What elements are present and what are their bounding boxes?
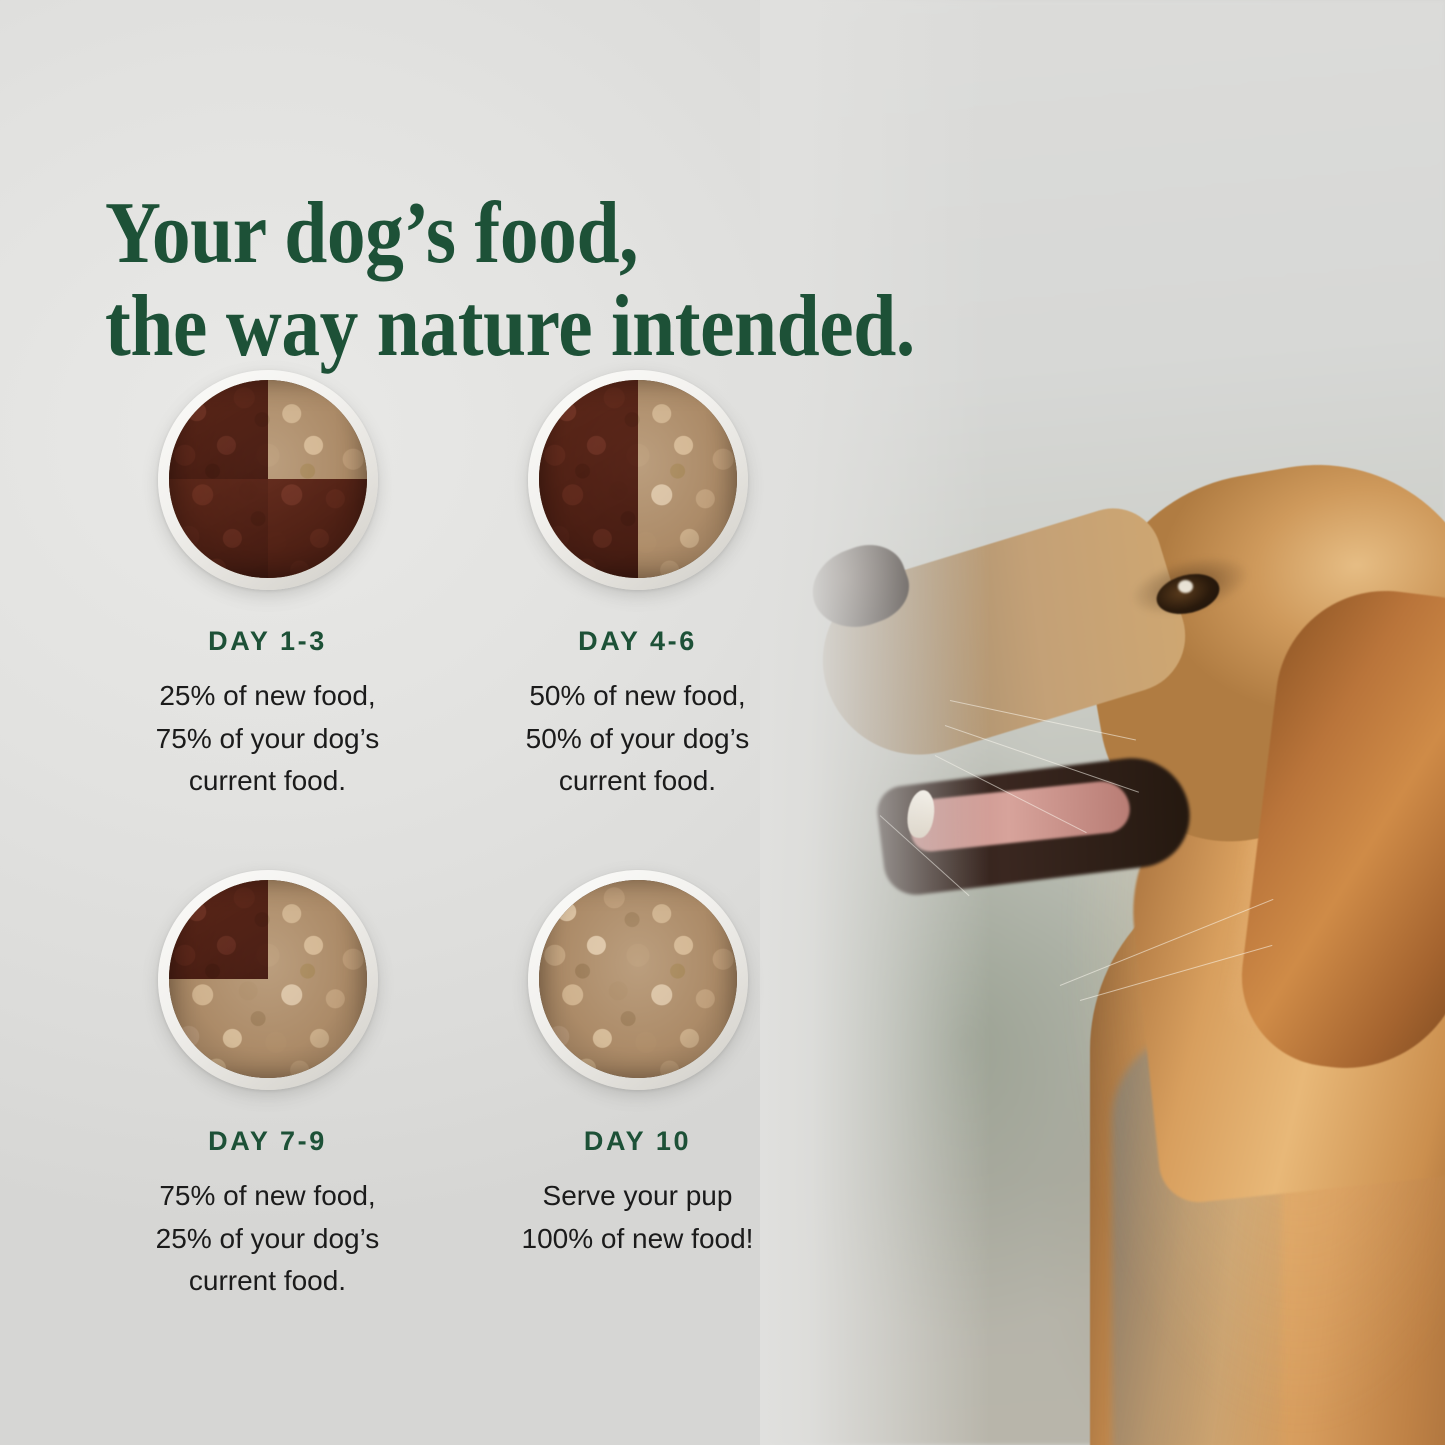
- bowl-graphic-day-7-9: [158, 870, 378, 1092]
- step-day-label: DAY 7-9: [85, 1126, 450, 1157]
- bowl-contents: [169, 380, 367, 578]
- step-description-line-3: current food.: [473, 760, 803, 803]
- step-description-line-1: 75% of new food,: [103, 1175, 433, 1218]
- bowl-dish: [158, 370, 378, 590]
- steps-row-1: DAY 1-3 25% of new food, 75% of your dog…: [0, 370, 800, 870]
- step-description: 75% of new food, 25% of your dog’s curre…: [103, 1175, 433, 1303]
- bowl-graphic-day-1-3: [158, 370, 378, 592]
- bowl-graphic-day-4-6: [528, 370, 748, 592]
- step-description-line-1: 50% of new food,: [473, 675, 803, 718]
- headline-line-1: Your dog’s food,: [105, 185, 638, 282]
- bowl-contents: [539, 380, 737, 578]
- step-description-line-2: 50% of your dog’s: [473, 718, 803, 761]
- bowl-dish: [528, 870, 748, 1090]
- step-day-label: DAY 10: [455, 1126, 820, 1157]
- current-food-overlay: [169, 880, 367, 1078]
- bowl-contents: [169, 880, 367, 1078]
- page-title: Your dog’s food, the way nature intended…: [105, 187, 967, 374]
- step-day-label: DAY 1-3: [85, 626, 450, 657]
- step-description-line-1: Serve your pup: [473, 1175, 803, 1218]
- headline-line-2: the way nature intended.: [105, 280, 967, 373]
- step-description: Serve your pup 100% of new food!: [473, 1175, 803, 1260]
- step-card-day-7-9: DAY 7-9 75% of new food, 25% of your dog…: [85, 870, 450, 1303]
- step-description-line-2: 100% of new food!: [473, 1218, 803, 1261]
- step-description-line-1: 25% of new food,: [103, 675, 433, 718]
- current-food-overlay: [539, 380, 737, 578]
- old-food-quadrant-bottom-right: [268, 479, 367, 578]
- step-description-line-2: 75% of your dog’s: [103, 718, 433, 761]
- old-food-quadrant-top-left: [169, 380, 268, 479]
- old-food-quadrant-bottom-left: [169, 479, 268, 578]
- current-food-overlay: [169, 380, 367, 578]
- step-description-line-3: current food.: [103, 1260, 433, 1303]
- bowl-graphic-day-10: [528, 870, 748, 1092]
- step-description-line-2: 25% of your dog’s: [103, 1218, 433, 1261]
- step-card-day-1-3: DAY 1-3 25% of new food, 75% of your dog…: [85, 370, 450, 803]
- bowl-dish: [158, 870, 378, 1090]
- bowl-dish: [528, 370, 748, 590]
- step-description: 25% of new food, 75% of your dog’s curre…: [103, 675, 433, 803]
- step-description-line-3: current food.: [103, 760, 433, 803]
- old-food-left-half: [539, 380, 638, 578]
- transition-steps-grid: DAY 1-3 25% of new food, 75% of your dog…: [0, 370, 800, 1370]
- old-food-quadrant-top-left: [169, 880, 268, 979]
- step-card-day-4-6: DAY 4-6 50% of new food, 50% of your dog…: [455, 370, 820, 803]
- step-description: 50% of new food, 50% of your dog’s curre…: [473, 675, 803, 803]
- transition-guide-graphic: Your dog’s food, the way nature intended…: [0, 0, 1445, 1445]
- new-food-kibble: [539, 880, 737, 1078]
- dog-eye-glint: [1178, 580, 1193, 593]
- step-card-day-10: DAY 10 Serve your pup 100% of new food!: [455, 870, 820, 1260]
- steps-row-2: DAY 7-9 75% of new food, 25% of your dog…: [0, 870, 800, 1370]
- step-day-label: DAY 4-6: [455, 626, 820, 657]
- bowl-contents: [539, 880, 737, 1078]
